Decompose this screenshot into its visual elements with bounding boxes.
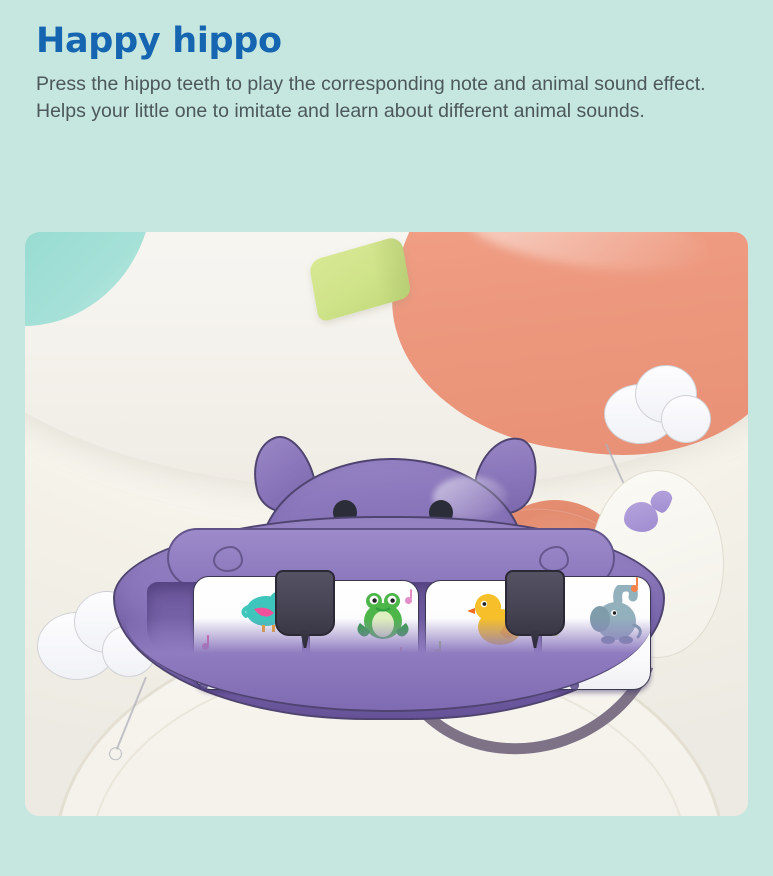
- section-description: Press the hippo teeth to play the corres…: [36, 71, 726, 125]
- hippo-piano[interactable]: Do: [113, 430, 661, 718]
- page-title: Happy hippo: [36, 22, 736, 61]
- hippo-nostril-left: [213, 546, 243, 572]
- piano-black-key-1[interactable]: [275, 570, 335, 636]
- hippo-body: Do: [113, 516, 665, 720]
- hippo-lower-lip: [125, 618, 653, 712]
- piano-black-key-2[interactable]: [505, 570, 565, 636]
- cloud-decoration-left: [37, 612, 117, 680]
- section-text-block: Happy hippo Press the hippo teeth to pla…: [36, 22, 736, 125]
- happy-hippo-section: Happy hippo Press the hippo teeth to pla…: [0, 0, 773, 876]
- hippo-nostril-right: [539, 546, 569, 572]
- music-note-icon: [631, 585, 638, 592]
- product-photo: Do: [25, 232, 748, 816]
- music-note-icon: [405, 597, 412, 604]
- peach-arch-highlight: [463, 232, 709, 283]
